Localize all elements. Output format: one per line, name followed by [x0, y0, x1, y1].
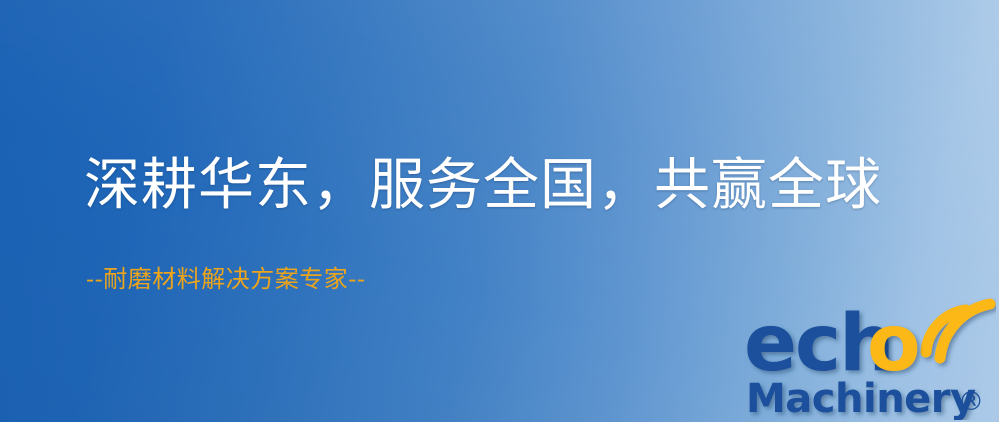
echo-wave-icon [926, 304, 990, 358]
logo-tagline: Machinery [746, 376, 976, 420]
svg-text:®: ® [958, 387, 984, 417]
echo-machinery-logo[interactable]: ech o Machinery ® [744, 296, 996, 420]
banner-subtitle: --耐磨材料解决方案专家-- [86, 265, 365, 294]
hero-banner: 深耕华东，服务全国，共赢全球 --耐磨材料解决方案专家-- ech o [0, 0, 999, 422]
svg-text:Machinery: Machinery [746, 376, 976, 420]
registered-trademark-icon: ® [958, 387, 984, 417]
banner-headline: 深耕华东，服务全国，共赢全球 [84, 156, 882, 216]
